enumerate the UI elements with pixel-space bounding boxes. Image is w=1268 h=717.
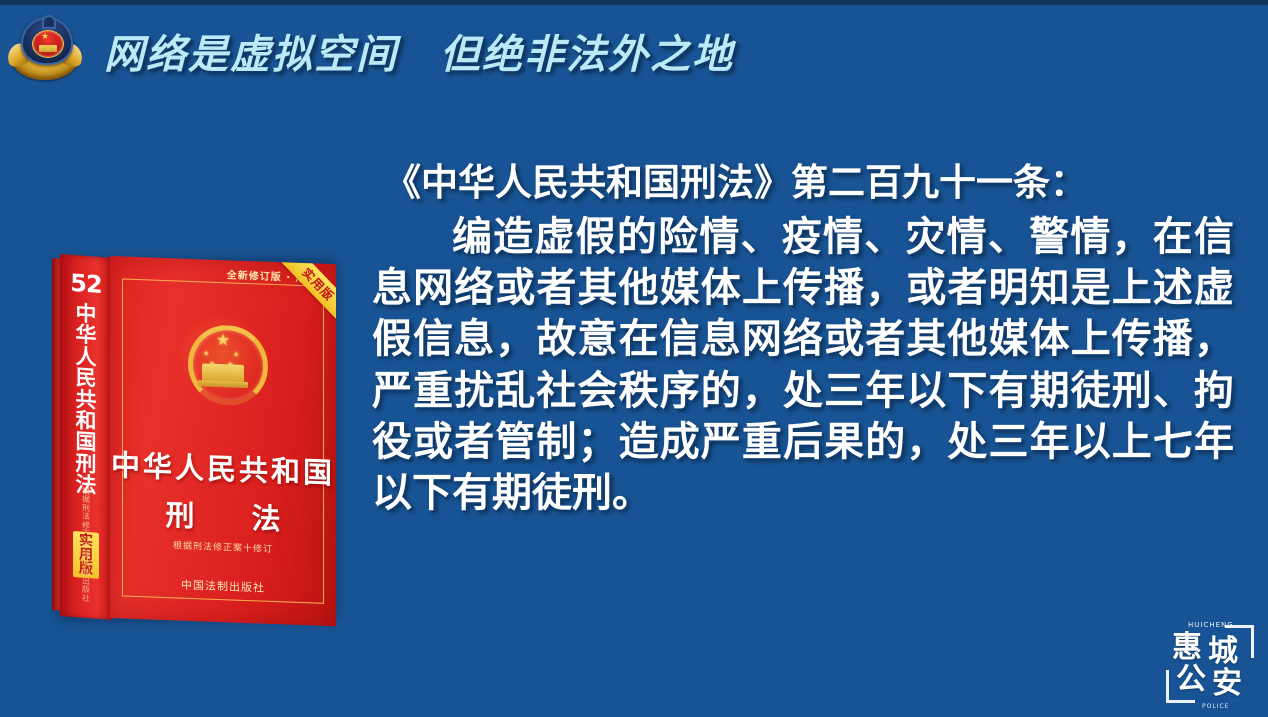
emblem-star-small-3: ★ <box>233 347 239 363</box>
watermark-foot-text: POLICE <box>1202 703 1229 710</box>
badge-shield-shape <box>21 17 73 65</box>
badge-emblem-core <box>32 30 64 58</box>
spine-publisher: 中国法制出版社 <box>81 542 92 604</box>
emblem-tiananmen-shape <box>202 363 244 383</box>
law-article-title: 《中华人民共和国刑法》第二百九十一条： <box>384 152 1234 206</box>
cover-title-line2: 刑 法 <box>110 490 336 540</box>
badge-gate-shape <box>39 45 57 52</box>
header-slogan: 网络是虚拟空间 但绝非法外之地 <box>104 22 734 80</box>
slide-canvas: 网络是虚拟空间 但绝非法外之地 52 中华人民共和国刑法 根据刑法修正案十修订 … <box>0 0 1268 717</box>
huicheng-police-watermark-logo: HUICHENG 惠 城 公 安 POLICE <box>1162 613 1258 709</box>
watermark-char-4: 安 <box>1212 669 1242 699</box>
law-text-block: 《中华人民共和国刑法》第二百九十一条： 编造虚假的险情、疫情、灾情、警情，在信息… <box>372 152 1234 519</box>
header-bar: 网络是虚拟空间 但绝非法外之地 <box>0 5 1268 97</box>
spine-title: 中华人民共和国刑法 <box>73 303 99 498</box>
watermark-char-2: 城 <box>1208 637 1238 667</box>
criminal-law-book-image: 52 中华人民共和国刑法 根据刑法修正案十修订 实用版 中国法制出版社 全新修订… <box>52 252 342 622</box>
watermark-char-1: 惠 <box>1172 633 1202 663</box>
cover-title-line1: 中华人民共和国 <box>110 442 336 492</box>
watermark-micro-text: HUICHENG <box>1188 621 1234 629</box>
law-article-body: 编造虚假的险情、疫情、灾情、警情，在信息网络或者其他媒体上传播，或者明知是上述虚… <box>372 212 1234 519</box>
book-front-cover: 全新修订版 · 刑 法 实用版 ★ ★ ★ ★ ★ 中华人民共和国 刑 法 根据… <box>110 256 336 626</box>
police-badge-icon <box>8 14 82 88</box>
spine-number: 52 <box>70 269 101 299</box>
emblem-stars-group: ★ ★ ★ ★ ★ <box>179 331 267 350</box>
book-spine: 52 中华人民共和国刑法 根据刑法修正案十修订 实用版 中国法制出版社 <box>60 254 112 620</box>
watermark-char-3: 公 <box>1176 665 1206 695</box>
